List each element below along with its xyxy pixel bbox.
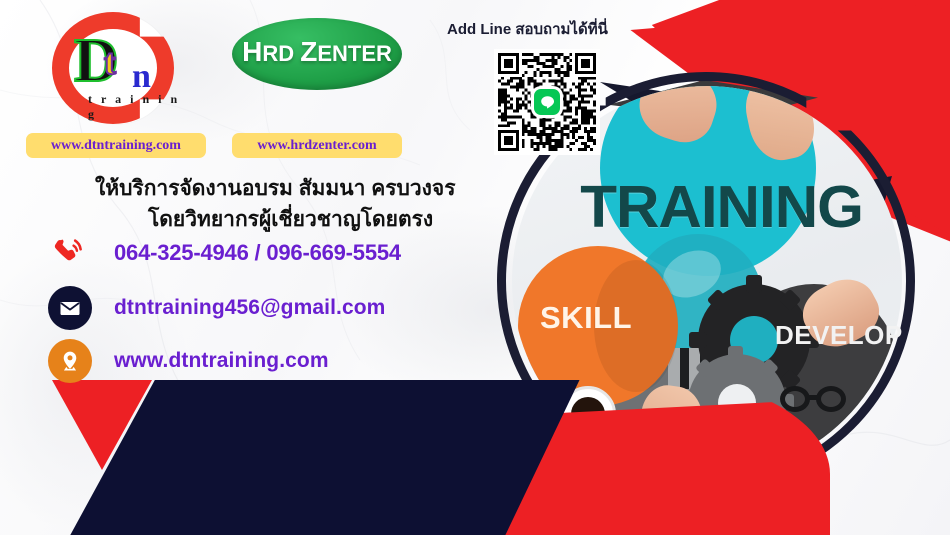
word-training: TRAINING (580, 178, 863, 237)
dtn-logo[interactable]: D t n t r a i n i n g (48, 8, 184, 132)
website-text: www.dtntraining.com (114, 349, 329, 373)
add-line-heading: Add Line สอบถามได้ที่นี่ (447, 17, 608, 41)
hrd-logo-enter: ENTER (317, 41, 392, 66)
phone-icon (48, 231, 92, 275)
dtn-logo-letter-n: n (132, 60, 151, 94)
dtn-logo-letter-t: t (104, 44, 116, 80)
hrd-logo-h: H (242, 36, 262, 67)
hrd-logo-rd: RD (262, 41, 300, 66)
hrd-logo-text: HRD ZENTER (232, 36, 402, 68)
phone-number-text: 064-325-4946 / 096-669-5554 (114, 240, 401, 266)
line-qr-code[interactable] (494, 49, 600, 155)
contact-website-row[interactable]: www.dtntraining.com (48, 340, 478, 382)
hrdzenter-website-badge[interactable]: www.hrdzenter.com (232, 133, 402, 158)
word-skill: SKILL (540, 300, 632, 336)
eyeglasses-icon (780, 386, 856, 414)
dtn-logo-subtitle: t r a i n i n g (88, 92, 184, 122)
word-develop: DEVELOP (775, 320, 903, 351)
hrd-logo-z: Z (300, 36, 317, 67)
dtn-website-badge[interactable]: www.dtntraining.com (26, 133, 206, 158)
promo-poster: TRAINING SKILL DEVELOP D t n t r a i n i… (0, 0, 950, 535)
contact-email-row[interactable]: dtntraining456@gmail.com (48, 287, 478, 329)
tagline-line-1: ให้บริการจัดงานอบรม สัมมนา ครบวงจร (95, 172, 456, 205)
email-icon (48, 286, 92, 330)
contact-phone-row[interactable]: 064-325-4946 / 096-669-5554 (48, 232, 478, 274)
hrd-zenter-logo[interactable]: HRD ZENTER (232, 18, 402, 90)
line-app-icon (534, 89, 560, 115)
email-text: dtntraining456@gmail.com (114, 296, 385, 320)
location-pin-icon (48, 339, 92, 383)
